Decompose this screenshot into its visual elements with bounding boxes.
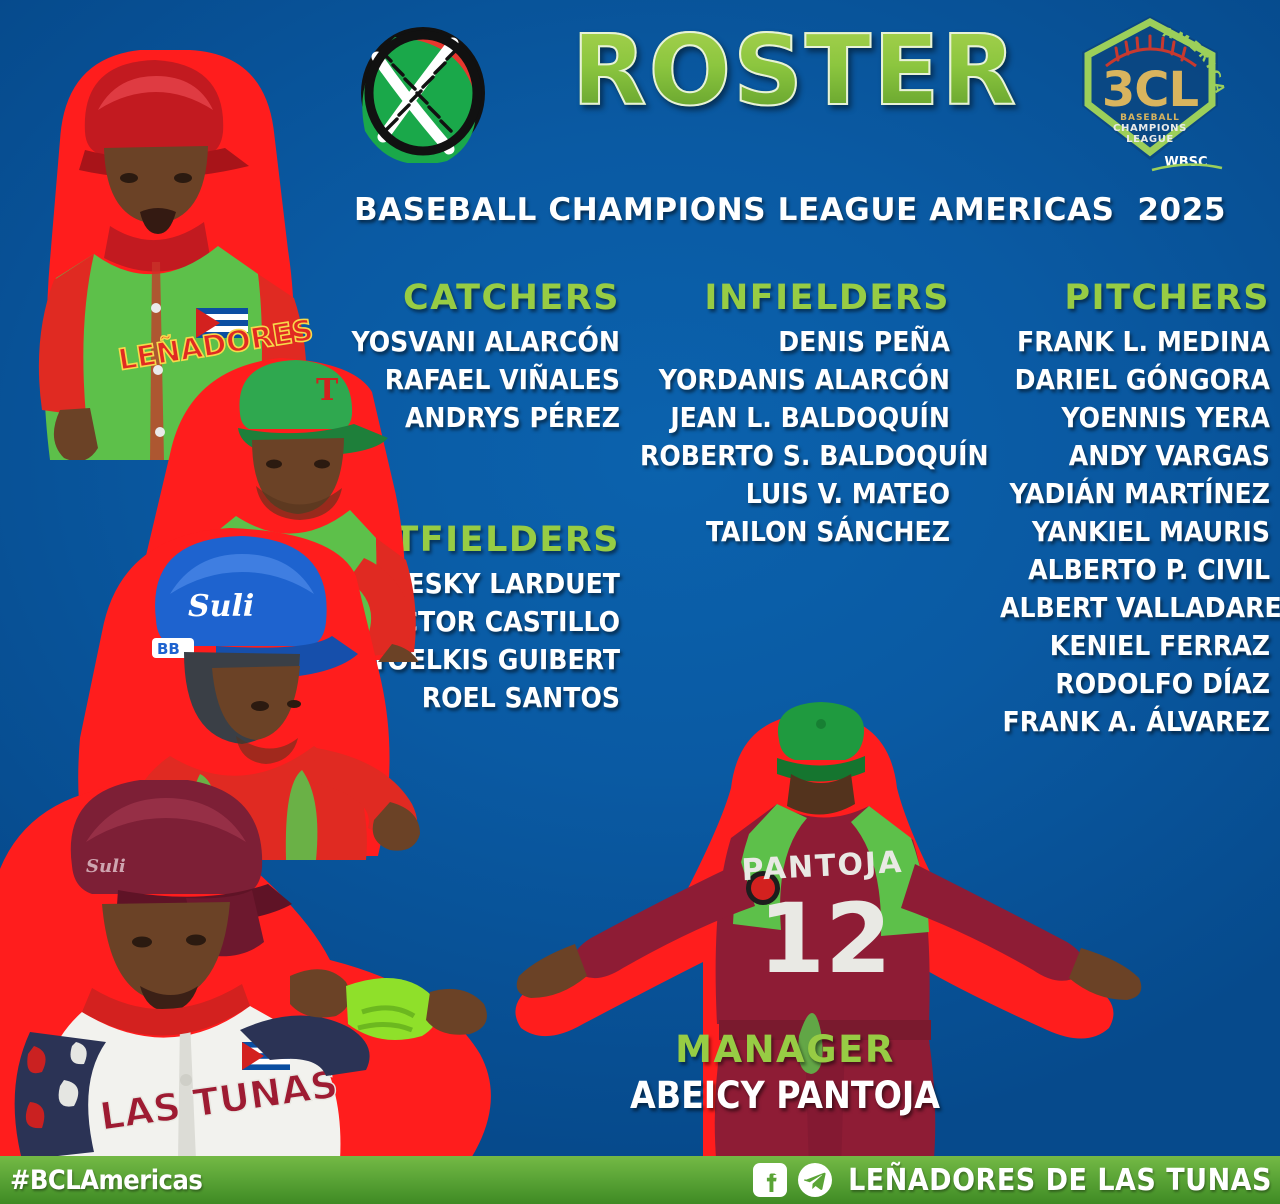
section-heading-pitchers: PITCHERS	[1000, 278, 1270, 318]
player-name: TAILON SÁNCHEZ	[640, 513, 950, 551]
player-name: JEAN L. BALDOQUÍN	[640, 399, 950, 437]
player-name: ALBERTO P. CIVIL	[1000, 551, 1270, 589]
footer-hashtag: #BCLAmericas	[10, 1165, 202, 1196]
poster-subtitle: BASEBALL CHAMPIONS LEAGUE AMERICAS 2025	[300, 192, 1280, 228]
footer-social: LEÑADORES DE LAS TUNAS	[752, 1162, 1272, 1198]
section-heading-catchers: CATCHERS	[330, 278, 620, 318]
player-name: ROBERTO S. BALDOQUÍN	[640, 437, 950, 475]
svg-text:T: T	[316, 373, 339, 408]
lenadores-baseball-icon	[357, 23, 489, 163]
player-photo-runner-maroon-helmet: Suli LAS TUNAS	[0, 780, 550, 1160]
player-name: DENIS PEÑA	[640, 323, 950, 361]
svg-text:BASEBALL: BASEBALL	[1120, 113, 1180, 123]
svg-text:WBSC: WBSC	[1164, 155, 1207, 170]
bcl-monogram: 3CL	[1102, 62, 1199, 118]
svg-text:BB: BB	[157, 640, 180, 658]
player-name: ANDY VARGAS	[1000, 437, 1270, 475]
section-heading-infielders: INFIELDERS	[640, 278, 950, 318]
roster-poster: LEÑADORES T	[0, 0, 1280, 1204]
player-name: DARIEL GÓNGORA	[1000, 361, 1270, 399]
page-title: ROSTER	[560, 18, 1030, 123]
player-name: KENIEL FERRAZ	[1000, 627, 1270, 665]
section-pitchers: PITCHERS FRANK L. MEDINA DARIEL GÓNGORA …	[1000, 278, 1270, 741]
svg-text:Suli: Suli	[188, 589, 254, 624]
section-heading-manager: MANAGER	[545, 1028, 1025, 1071]
player-name: ALBERT VALLADARES	[1000, 589, 1270, 627]
player-name: LUIS V. MATEO	[640, 475, 950, 513]
player-name: FRANK L. MEDINA	[1000, 323, 1270, 361]
player-name: YOENNIS YERA	[1000, 399, 1270, 437]
manager-name: ABEICY PANTOJA	[545, 1073, 1025, 1119]
section-manager: MANAGER ABEICY PANTOJA	[545, 1028, 1025, 1119]
svg-text:LEAGUE: LEAGUE	[1126, 134, 1174, 145]
section-infielders: INFIELDERS DENIS PEÑA YORDANIS ALARCÓN J…	[640, 278, 950, 551]
svg-text:CHAMPIONS: CHAMPIONS	[1113, 123, 1187, 134]
svg-text:Suli: Suli	[86, 856, 126, 877]
footer-social-label: LEÑADORES DE LAS TUNAS	[848, 1163, 1272, 1198]
telegram-icon[interactable]	[797, 1162, 833, 1198]
player-name: YORDANIS ALARCÓN	[640, 361, 950, 399]
facebook-icon[interactable]	[752, 1162, 788, 1198]
player-name: YANKIEL MAURIS	[1000, 513, 1270, 551]
footer-bar: #BCLAmericas LEÑADORES DE LAS TUNAS	[0, 1156, 1280, 1204]
svg-text:12: 12	[758, 883, 892, 995]
player-name: RODOLFO DÍAZ	[1000, 665, 1270, 703]
player-name: YADIÁN MARTÍNEZ	[1000, 475, 1270, 513]
bcl-americas-logo: 3CL BASEBALL CHAMPIONS LEAGUE AMERICAS W…	[1066, 8, 1234, 173]
